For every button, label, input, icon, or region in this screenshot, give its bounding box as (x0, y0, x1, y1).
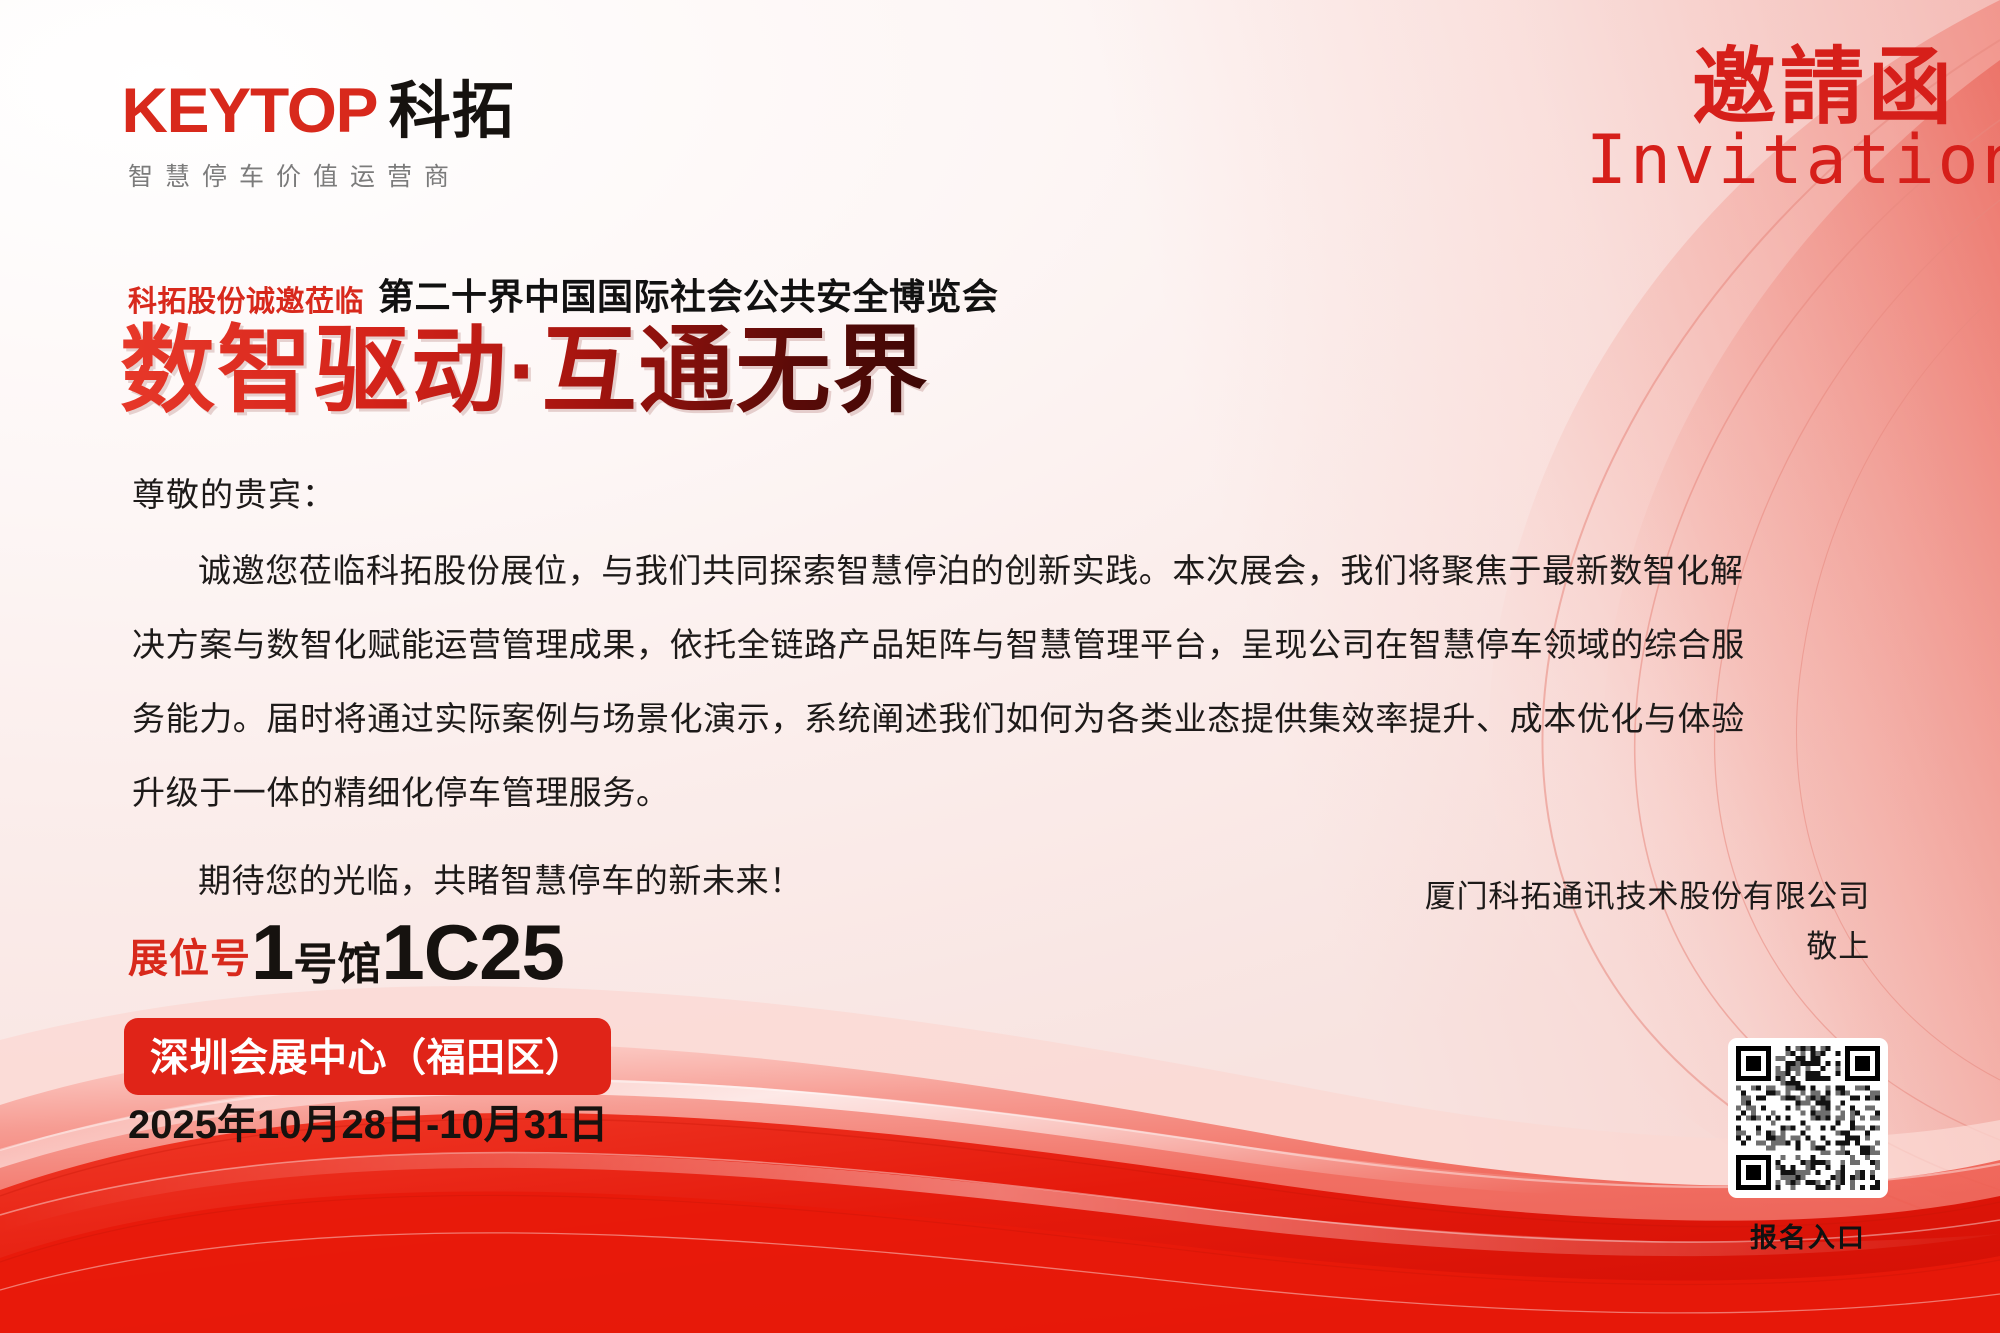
logo-wordmark-en: KEYTOP (121, 80, 377, 143)
brand-logo: KEYTOP 科拓 智慧停车价值运营商 (124, 80, 515, 193)
qr-caption: 报名入口 (1728, 1216, 1888, 1255)
letter-line-2: 决方案与数智化赋能运营管理成果，依托全链路产品矩阵与智慧管理平台，呈现公司在智慧… (132, 608, 1862, 682)
letter-line-1: 诚邀您莅临科拓股份展位，与我们共同探索智慧停泊的创新实践。本次展会，我们将聚焦于… (132, 534, 1862, 608)
booth-number: 1号馆1C25 (251, 915, 564, 990)
booth-stand-code: 1C25 (381, 908, 563, 996)
invitation-mark-cn: 邀請函 (1586, 44, 1956, 131)
letter-line-3: 务能力。届时将通过实际案例与场景化演示，系统阐述我们如何为各类业态提供集效率提升… (132, 682, 1862, 756)
event-date: 2025年10月28日-10月31日 (128, 1092, 608, 1150)
letter-salutation: 尊敬的贵宾： (132, 470, 1862, 520)
brand-tagline: 智慧停车价值运营商 (128, 157, 515, 193)
qr-code-image[interactable] (1736, 1046, 1880, 1190)
headline-eyebrow: 科拓股份诚邀莅临 第二十界中国国际社会公共安全博览会 (128, 268, 999, 320)
invitation-mark-en: Invitation (1586, 127, 1956, 195)
headline-title: 数智驱动·互通无界 (120, 318, 930, 424)
invitation-mark: 邀請函 Invitation (1586, 44, 1956, 195)
qr-code-card[interactable] (1728, 1038, 1888, 1198)
booth-label: 展位号 (128, 926, 251, 990)
venue-badge: 深圳会展中心（福田区） (124, 1018, 611, 1095)
signature-block: 厦门科拓通讯技术股份有限公司 敬上 (1425, 872, 1870, 972)
eyebrow-invite-text: 科拓股份诚邀莅临 (128, 278, 364, 320)
eyebrow-event-name: 第二十界中国国际社会公共安全博览会 (378, 268, 999, 320)
booth-info: 展位号 1号馆1C25 (128, 915, 564, 990)
letter-line-4: 升级于一体的精细化停车管理服务。 (132, 756, 1862, 830)
signature-salute: 敬上 (1425, 922, 1870, 972)
logo-lockup: KEYTOP 科拓 (124, 80, 515, 143)
signature-company: 厦门科拓通讯技术股份有限公司 (1425, 872, 1870, 922)
registration-qr-block: 报名入口 (1728, 1038, 1888, 1255)
booth-hall-number: 1 (251, 908, 293, 996)
logo-wordmark-cn: 科拓 (389, 81, 515, 143)
invitation-poster: KEYTOP 科拓 智慧停车价值运营商 邀請函 Invitation 科拓股份诚… (0, 0, 2000, 1333)
letter-body: 尊敬的贵宾： 诚邀您莅临科拓股份展位，与我们共同探索智慧停泊的创新实践。本次展会… (132, 470, 1862, 918)
booth-hall-unit: 号馆 (293, 940, 381, 989)
